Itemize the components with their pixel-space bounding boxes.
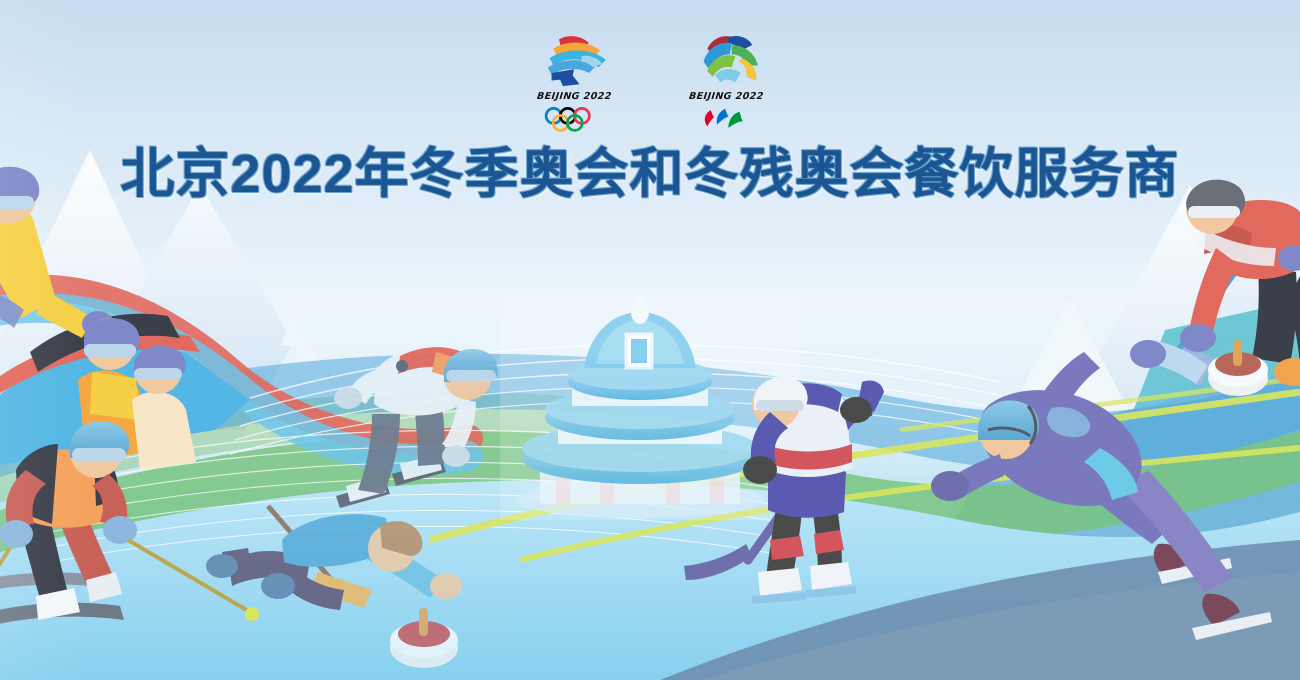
athlete-speed-skater — [931, 352, 1272, 640]
olympic-wordmark: BEIJING 2022 — [536, 91, 612, 102]
beijing-2022-paralympic-emblem: BEIJING 2022 — [676, 30, 776, 132]
page-title: 北京2022年冬季奥会和冬残奥会餐饮服务商 — [0, 143, 1300, 205]
beijing-2022-olympic-emblem: BEIJING 2022 — [524, 30, 624, 132]
athlete-short-track-skater — [334, 347, 498, 508]
paralympic-agitos-icon — [698, 106, 754, 132]
paralympic-wordmark: BEIJING 2022 — [688, 91, 764, 102]
emblem-row: BEIJING 2022 BEIJIN — [0, 30, 1300, 132]
athlete-curler-delivery — [206, 506, 462, 668]
athlete-ice-hockey-player — [684, 377, 884, 604]
olympic-rings-icon — [541, 106, 607, 132]
beijing-2022-catering-banner: BEIJING 2022 BEIJIN — [0, 0, 1300, 680]
olympic-winter-emblem-icon — [528, 30, 620, 88]
paralympic-winter-emblem-icon — [680, 30, 772, 88]
